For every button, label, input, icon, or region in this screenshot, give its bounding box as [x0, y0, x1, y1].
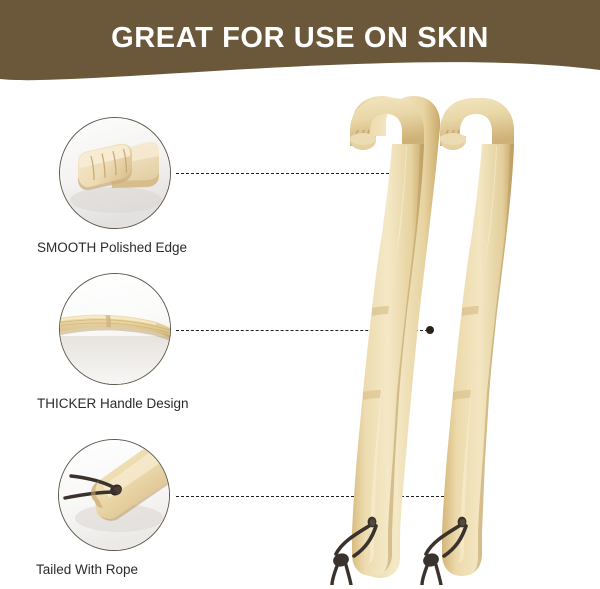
- product-image-back-scratchers: [330, 92, 600, 585]
- callout-thicker-handle-design: THICKER Handle Design: [59, 273, 171, 423]
- callout-label-tailed-with-rope: Tailed With Rope: [36, 561, 251, 578]
- bamboo-back-scratchers-illustration: [330, 92, 600, 585]
- bamboo-handle-section-photo: [60, 274, 170, 384]
- infographic-canvas: GREAT FOR USE ON SKIN: [0, 0, 600, 585]
- header-banner: GREAT FOR USE ON SKIN: [0, 0, 600, 90]
- callout-smooth-polished-edge: SMOOTH Polished Edge: [59, 117, 171, 267]
- callout-label-smooth-polished-edge: SMOOTH Polished Edge: [37, 239, 252, 256]
- callout-image-tailed-with-rope: [58, 439, 170, 551]
- back-scratcher-1: [331, 96, 440, 585]
- callout-label-thicker-handle-design: THICKER Handle Design: [37, 395, 252, 412]
- bamboo-handle-rope-photo: [59, 440, 169, 550]
- callout-image-smooth-polished-edge: [59, 117, 171, 229]
- bamboo-comb-head-photo: [60, 118, 170, 228]
- callout-tailed-with-rope: Tailed With Rope: [58, 439, 170, 589]
- page-title: GREAT FOR USE ON SKIN: [0, 21, 600, 55]
- callout-image-thicker-handle-design: [59, 273, 171, 385]
